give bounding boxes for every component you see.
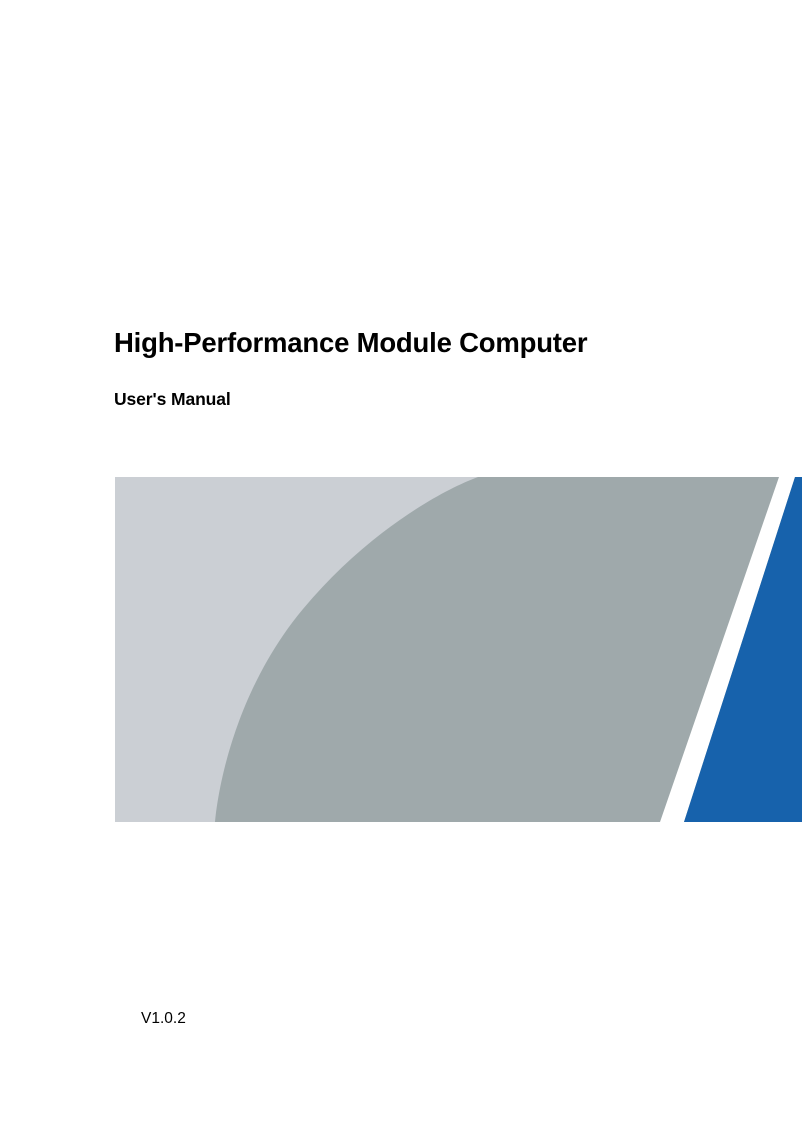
version-block: V1.0.2 xyxy=(141,1009,186,1029)
cover-page: High-Performance Module Computer User's … xyxy=(0,0,802,1134)
page-subtitle: User's Manual xyxy=(114,360,754,410)
cover-banner-svg xyxy=(115,477,802,822)
title-block: High-Performance Module Computer User's … xyxy=(114,326,754,410)
page-title: High-Performance Module Computer xyxy=(114,326,754,360)
version-label: V1.0.2 xyxy=(141,1009,186,1029)
cover-banner-graphic xyxy=(115,477,802,822)
